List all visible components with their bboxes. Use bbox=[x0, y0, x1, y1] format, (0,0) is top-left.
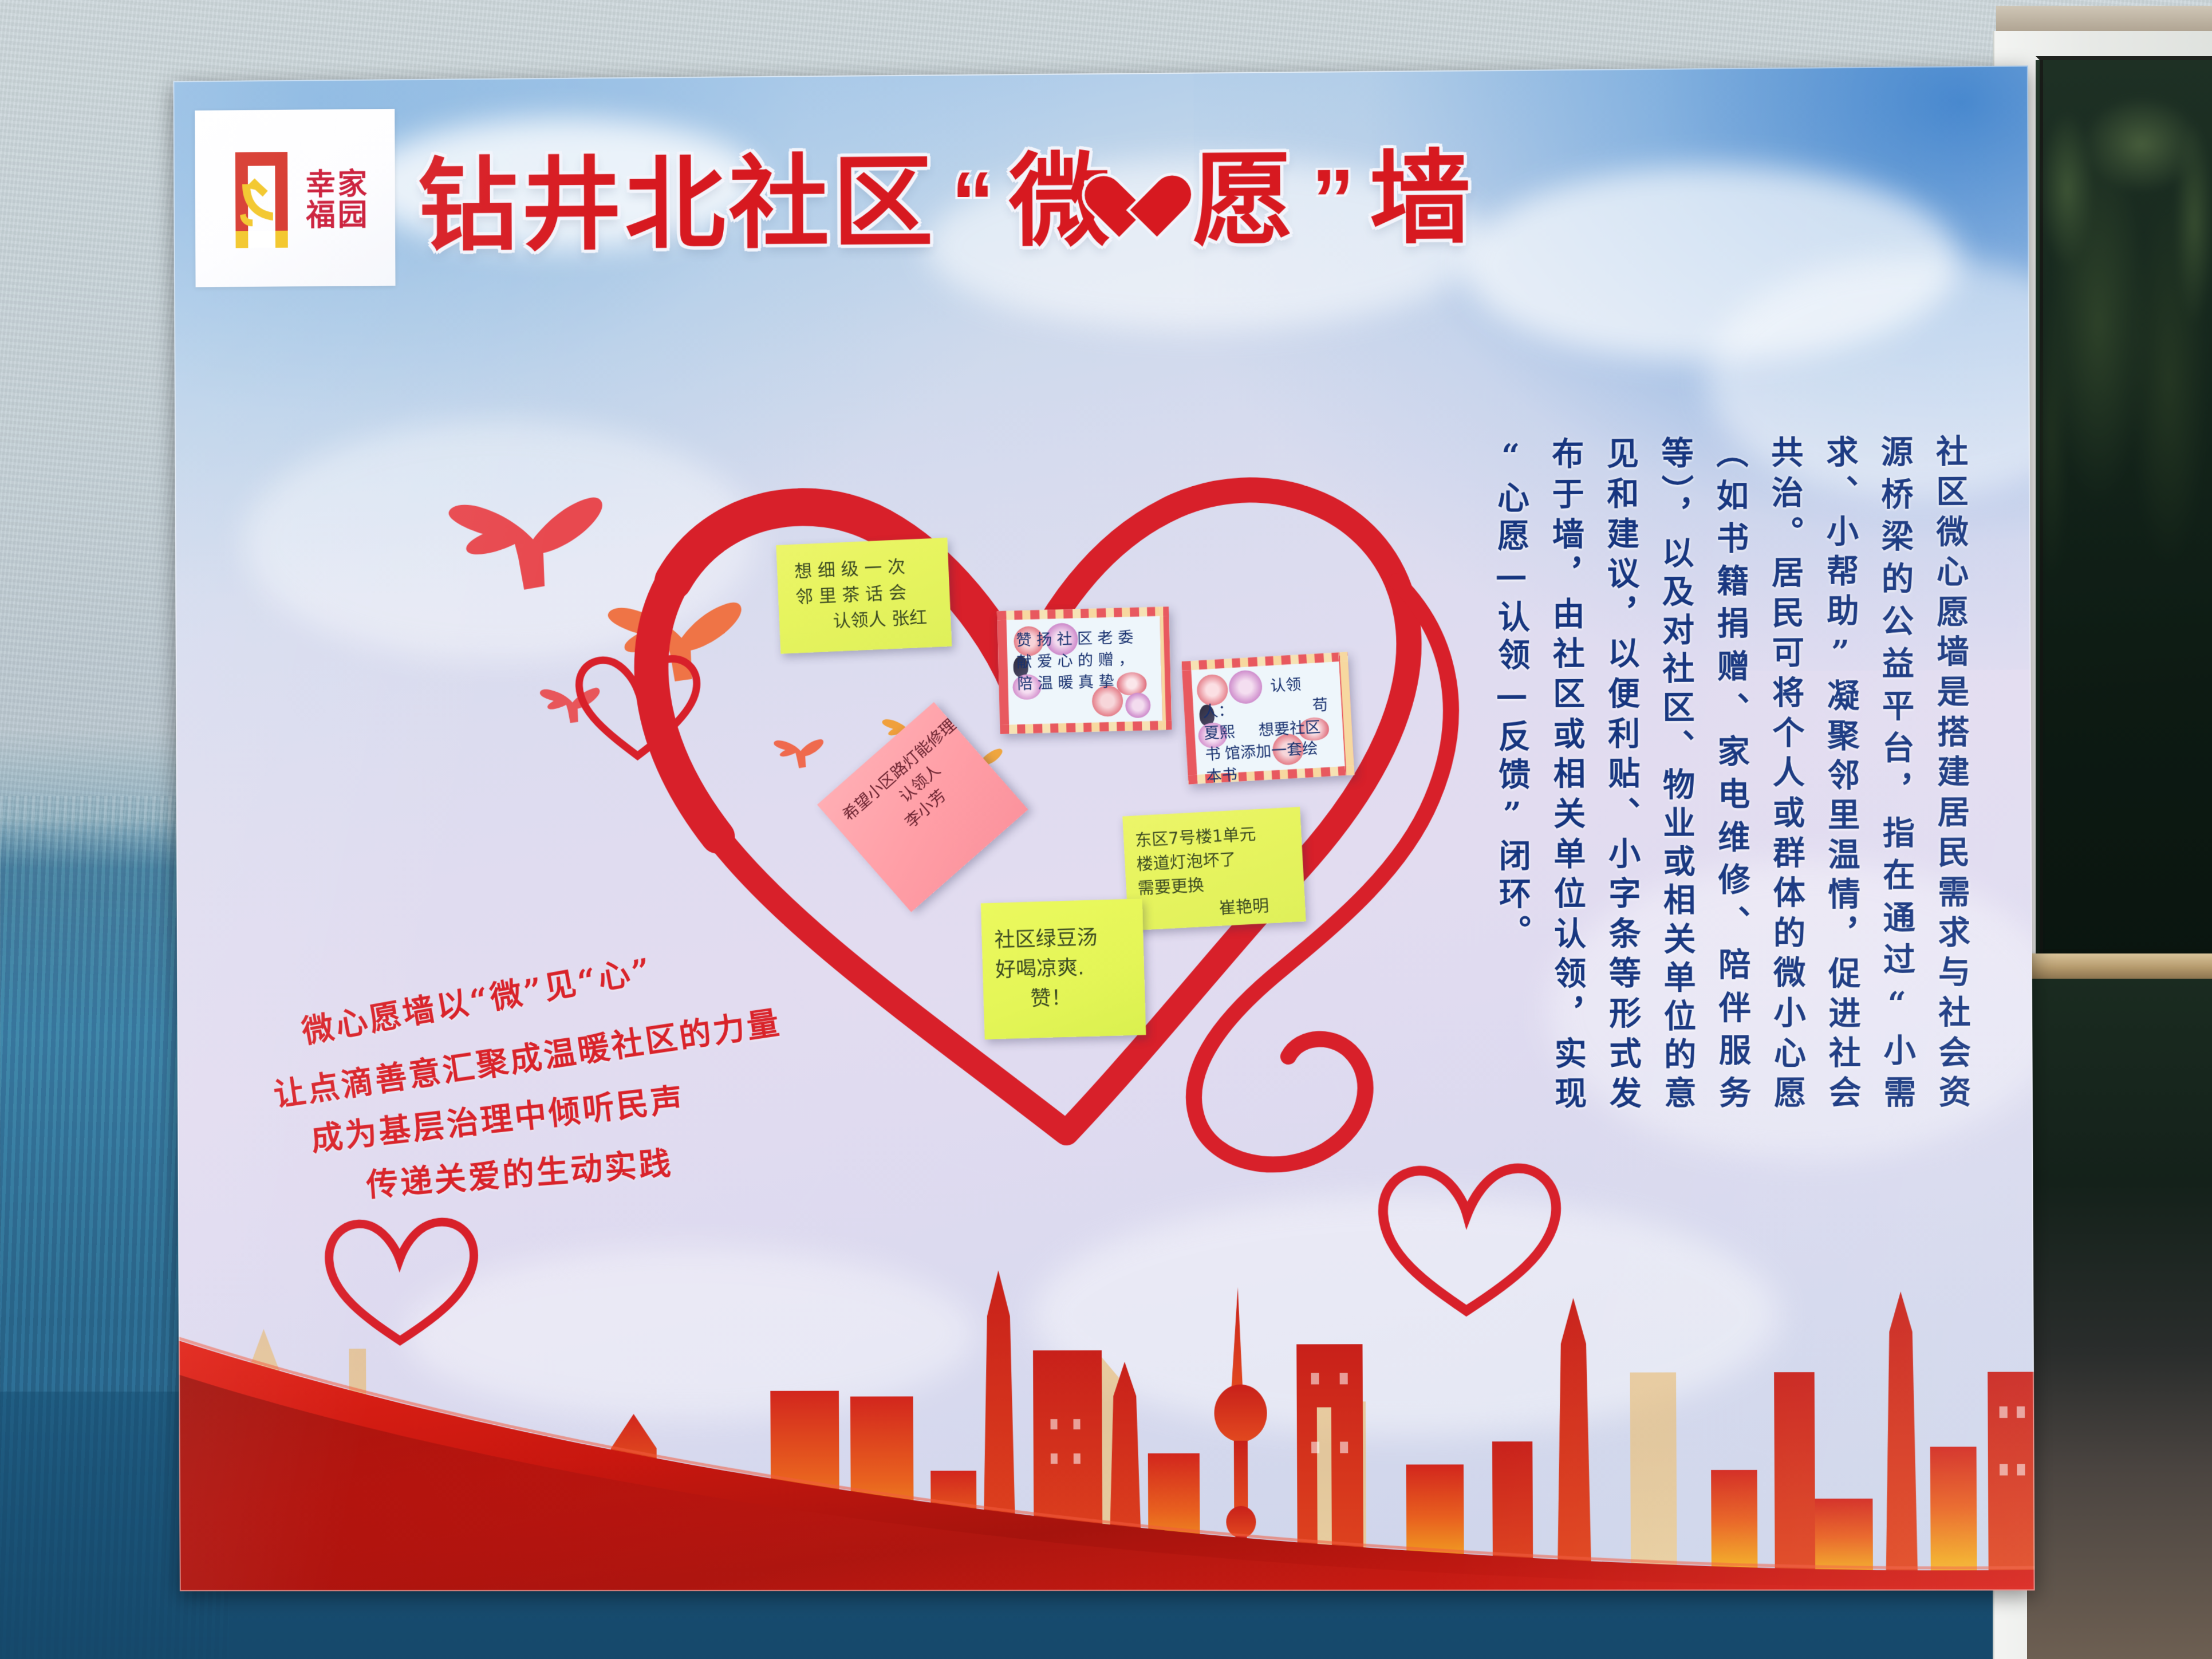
note-line: 赞 扬 社 区 老 委 bbox=[1016, 629, 1134, 649]
note-line: 好喝凉爽. bbox=[995, 952, 1131, 986]
logo-char-fu: 福 bbox=[306, 200, 336, 230]
note-claimant-label: 认领人： bbox=[1202, 676, 1302, 721]
headline-quote-open: “ bbox=[951, 152, 995, 251]
sticky-note[interactable]: 东区7号楼1单元 楼道灯泡坏了 需要更换 崔艳明 bbox=[1122, 807, 1306, 931]
note-line: 赞！ bbox=[1030, 982, 1133, 1014]
headline-wall: 墙 bbox=[1369, 148, 1474, 250]
sticky-note[interactable]: 社区绿豆汤 好喝凉爽. 赞！ bbox=[981, 899, 1146, 1039]
red-ribbon-banner bbox=[178, 1268, 2034, 1591]
slogan-block: 微心愿墙以“微”见“心” 让点滴善意汇聚成温暖社区的力量 成为基层治理中倾听民声… bbox=[265, 970, 995, 1212]
microwish-wall-board: 幸 家 福 园 钻井北社区 “ 微 愿 ” 墙 bbox=[173, 65, 2034, 1591]
logo-wordmark: 幸 家 福 园 bbox=[306, 170, 368, 230]
headline-char-yuan: 愿 bbox=[1192, 149, 1297, 251]
headline-quote-close: ” bbox=[1311, 149, 1355, 249]
party-emblem-house-icon bbox=[225, 146, 298, 255]
wish-card[interactable]: 认领人： 苟夏熙 想要社区书 馆添加一套绘 本书 bbox=[1181, 652, 1354, 784]
flower-decor bbox=[1125, 692, 1151, 718]
note-line: 献 爱 心 的 赠 ， bbox=[1016, 651, 1134, 671]
photo-scene: 幸 家 福 园 钻井北社区 “ 微 愿 ” 墙 bbox=[0, 0, 2212, 1659]
note-signature: 崔艳明 bbox=[1219, 892, 1294, 920]
sticky-note[interactable]: 想 细 级 一 次 邻 里 茶 话 会 认领人 张红 bbox=[776, 538, 952, 654]
wish-card[interactable]: 赞 扬 社 区 老 委 献 爱 心 的 赠 ， 陪 温 暖 真 挚 bbox=[997, 606, 1172, 734]
note-line: 本书 bbox=[1206, 766, 1238, 786]
logo-char-yuan: 园 bbox=[338, 200, 368, 230]
page-title: 钻井北社区 “ 微 愿 ” 墙 bbox=[417, 111, 1965, 289]
note-line: 认领人 张红 bbox=[833, 605, 937, 635]
description-paragraph: 社区微心愿墙是搭建居民需求与社会资源桥梁的公益平台，指在通过“小需求、小帮助”凝… bbox=[1516, 434, 1980, 1114]
logo-char-xing: 幸 bbox=[306, 170, 336, 200]
window-glass-lower bbox=[2027, 979, 2212, 1659]
note-line: 馆添加一套绘 bbox=[1224, 740, 1318, 763]
logo-char-jia: 家 bbox=[337, 170, 367, 199]
headline-community: 钻井北社区 bbox=[417, 152, 937, 257]
community-logo-plaque: 幸 家 福 园 bbox=[195, 109, 395, 287]
note-line: 陪 温 暖 真 挚 bbox=[1017, 672, 1114, 692]
headline-wish-group: 微 愿 bbox=[1009, 149, 1297, 252]
note-line: 社区绿豆汤 bbox=[994, 922, 1131, 956]
heart-glyph-icon bbox=[1110, 157, 1196, 244]
